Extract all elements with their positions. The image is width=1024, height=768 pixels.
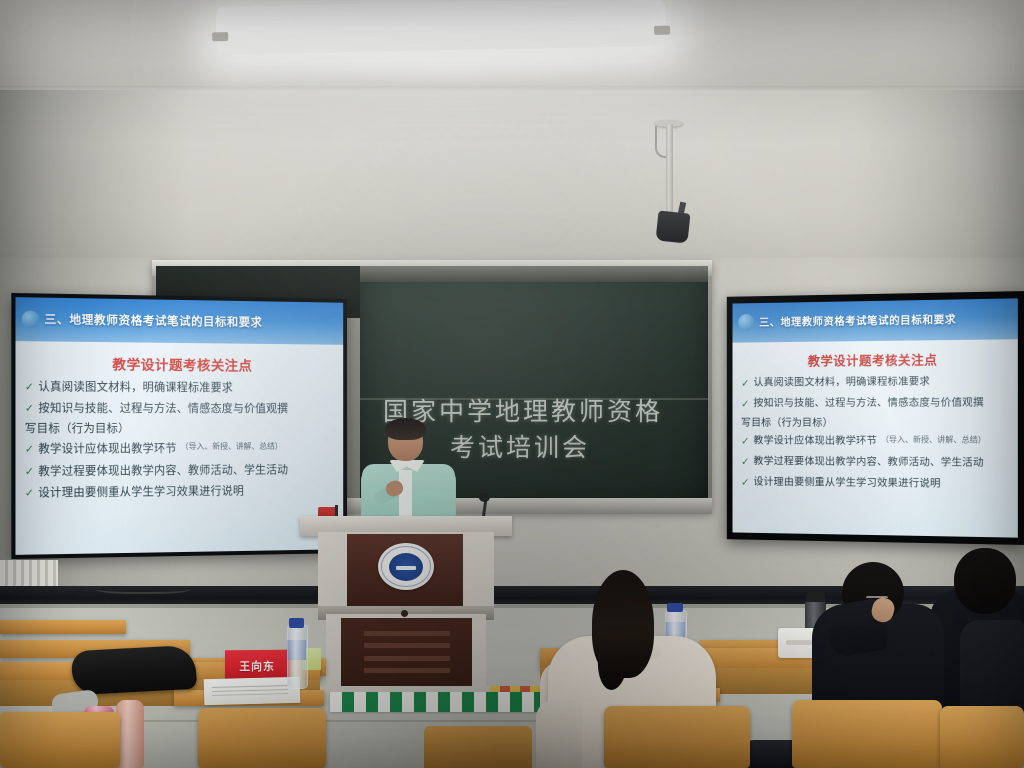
check-icon: ✓ bbox=[741, 475, 750, 491]
light-clip-right bbox=[654, 26, 670, 35]
eyeglasses-icon bbox=[866, 596, 888, 605]
slide-title: 教学设计题考核关注点 bbox=[15, 352, 343, 375]
podium-slat bbox=[364, 631, 450, 636]
bullet-subtext: （行为目标） bbox=[60, 422, 129, 435]
list-item: ✓ 教学过程要体现出教学内容、教师活动、学生活动 bbox=[25, 462, 336, 480]
wall-cable bbox=[95, 582, 191, 594]
slide-header-bar: 三、地理教师资格考试笔试的目标和要求 bbox=[15, 297, 343, 345]
check-icon: ✓ bbox=[25, 441, 34, 457]
slide-header-bar: 三、地理教师资格考试笔试的目标和要求 bbox=[733, 298, 1018, 342]
podium-slat bbox=[364, 668, 450, 673]
list-item: ✓ 设计理由要侧重从学生学习效果进行说明 bbox=[25, 483, 336, 502]
black-jacket bbox=[71, 645, 197, 695]
bullet-text: 教学设计应体现出教学环节 bbox=[38, 441, 176, 458]
bullet-text: 认真阅读图文材料，明确课程标准要求 bbox=[753, 374, 930, 390]
podium-slat bbox=[364, 643, 450, 648]
cream-thermos bbox=[116, 700, 144, 768]
bullet-text: 教学过程要体现出教学内容、教师活动、学生活动 bbox=[38, 462, 288, 479]
name-card-text: 王向东 bbox=[239, 657, 275, 673]
microphone-head bbox=[479, 493, 490, 502]
bullet-subtext: （导入、新授、讲解、总结） bbox=[881, 434, 986, 446]
blackboard-top-strip bbox=[360, 266, 708, 282]
chair-right-edge bbox=[940, 706, 1024, 768]
water-bottle-cap-left bbox=[289, 618, 304, 628]
radiator bbox=[0, 560, 58, 589]
projector-body bbox=[656, 210, 691, 243]
attendee-far-right-head bbox=[954, 548, 1016, 614]
slide-content-right: 三、地理教师资格考试笔试的目标和要求 教学设计题考核关注点 ✓ 认真阅读图文材料… bbox=[733, 298, 1018, 537]
water-bottle-cap-center bbox=[667, 603, 683, 612]
list-item: ✓ 按知识与技能、过程与方法、情感态度与价值观撰 bbox=[741, 395, 1010, 412]
light-clip-left bbox=[212, 32, 228, 41]
bullet-subtext: （行为目标） bbox=[771, 417, 833, 429]
bullet-text: 认真阅读图文材料，明确课程标准要求 bbox=[38, 379, 233, 396]
bullet-text: 教学设计应体现出教学环节 bbox=[753, 434, 877, 449]
blackboard-text-line2: 考试培训会 bbox=[450, 428, 590, 464]
slide-header-text: 三、地理教师资格考试笔试的目标和要求 bbox=[44, 311, 262, 330]
chair-right bbox=[792, 700, 942, 768]
bullet-text: 设计理由要侧重从学生学习效果进行说明 bbox=[38, 483, 244, 501]
check-icon: ✓ bbox=[741, 376, 750, 392]
check-icon: ✓ bbox=[25, 463, 34, 479]
slide-header-text: 三、地理教师资格考试笔试的目标和要求 bbox=[759, 312, 956, 330]
university-seal-icon bbox=[378, 543, 434, 590]
desk-far-left bbox=[0, 620, 126, 634]
podium-lower-panel bbox=[341, 618, 472, 686]
list-item: ✓ 认真阅读图文材料，明确课程标准要求 bbox=[741, 374, 1010, 391]
slide-badge-icon bbox=[22, 310, 40, 328]
chair-center-front bbox=[424, 726, 532, 768]
upper-wall bbox=[0, 90, 1024, 265]
seal-inner bbox=[389, 553, 423, 581]
attendee-foreground-partial bbox=[536, 700, 582, 768]
list-item: ✓ 教学设计应体现出教学环节（导入、新授、讲解、总结） bbox=[25, 441, 336, 458]
check-icon: ✓ bbox=[741, 434, 750, 450]
attendee-front-hair bbox=[592, 570, 654, 678]
check-icon: ✓ bbox=[741, 396, 750, 412]
presenter-hair bbox=[385, 418, 426, 440]
list-item: ✓ 设计理由要侧重从学生学习效果进行说明 bbox=[741, 475, 1010, 494]
list-item: ✓ 认真阅读图文材料，明确课程标准要求 bbox=[25, 379, 336, 397]
bullet-text: 教学过程要体现出教学内容、教师活动、学生活动 bbox=[753, 454, 983, 470]
classroom-photo: 国家中学地理教师资格 考试培训会 三、地理教师资格考试笔试的目标和要求 教学设计… bbox=[0, 0, 1024, 768]
bullet-text: 写目标 bbox=[741, 417, 771, 429]
fluorescent-light-fixture bbox=[216, 0, 667, 54]
chair-left-front bbox=[198, 708, 326, 768]
list-item: ✓ 教学过程要体现出教学内容、教师活动、学生活动 bbox=[741, 454, 1010, 472]
slide-bullet-list: ✓ 认真阅读图文材料，明确课程标准要求 ✓ 按知识与技能、过程与方法、情感态度与… bbox=[15, 373, 343, 502]
list-item: ✓ 按知识与技能、过程与方法、情感态度与价值观撰 bbox=[25, 401, 336, 418]
bullet-continuation: 写目标（行为目标） bbox=[741, 413, 1010, 428]
check-icon: ✓ bbox=[25, 401, 34, 417]
list-item: ✓ 教学设计应体现出教学环节（导入、新授、讲解、总结） bbox=[741, 434, 1010, 451]
projector-pole bbox=[666, 124, 673, 216]
projection-screen-left: 三、地理教师资格考试笔试的目标和要求 教学设计题考核关注点 ✓ 认真阅读图文材料… bbox=[11, 293, 347, 559]
slide-content-left: 三、地理教师资格考试笔试的目标和要求 教学设计题考核关注点 ✓ 认真阅读图文材料… bbox=[15, 297, 343, 555]
platform-tiles-green-white bbox=[330, 692, 552, 712]
slide-title: 教学设计题考核关注点 bbox=[733, 348, 1018, 370]
bullet-text: 设计理由要侧重从学生学习效果进行说明 bbox=[753, 475, 940, 492]
bullet-text: 按知识与技能、过程与方法、情感态度与价值观撰 bbox=[38, 401, 288, 418]
presenter-shirt bbox=[399, 470, 412, 520]
podium-slat bbox=[364, 656, 450, 661]
bullet-subtext: （导入、新授、讲解、总结） bbox=[181, 441, 283, 453]
check-icon: ✓ bbox=[25, 379, 34, 395]
bullet-text: 按知识与技能、过程与方法、情感态度与价值观撰 bbox=[753, 395, 983, 410]
display-screen-right: 三、地理教师资格考试笔试的目标和要求 教学设计题考核关注点 ✓ 认真阅读图文材料… bbox=[727, 291, 1024, 545]
paper-documents bbox=[204, 677, 301, 706]
chair-center-right bbox=[604, 706, 750, 768]
water-bottle-left bbox=[287, 625, 308, 689]
slide-badge-icon bbox=[738, 314, 754, 331]
podium-knob bbox=[401, 610, 408, 617]
check-icon: ✓ bbox=[741, 454, 750, 470]
blackboard-text-line1: 国家中学地理教师资格 bbox=[383, 392, 663, 428]
bullet-text: 写目标 bbox=[25, 422, 60, 435]
check-icon: ✓ bbox=[25, 485, 34, 501]
slide-bullet-list: ✓ 认真阅读图文材料，明确课程标准要求 ✓ 按知识与技能、过程与方法、情感态度与… bbox=[733, 368, 1018, 494]
sports-bottle-cap-right bbox=[806, 592, 825, 602]
bullet-continuation: 写目标（行为目标） bbox=[25, 420, 336, 436]
chair-left-edge bbox=[0, 712, 120, 768]
